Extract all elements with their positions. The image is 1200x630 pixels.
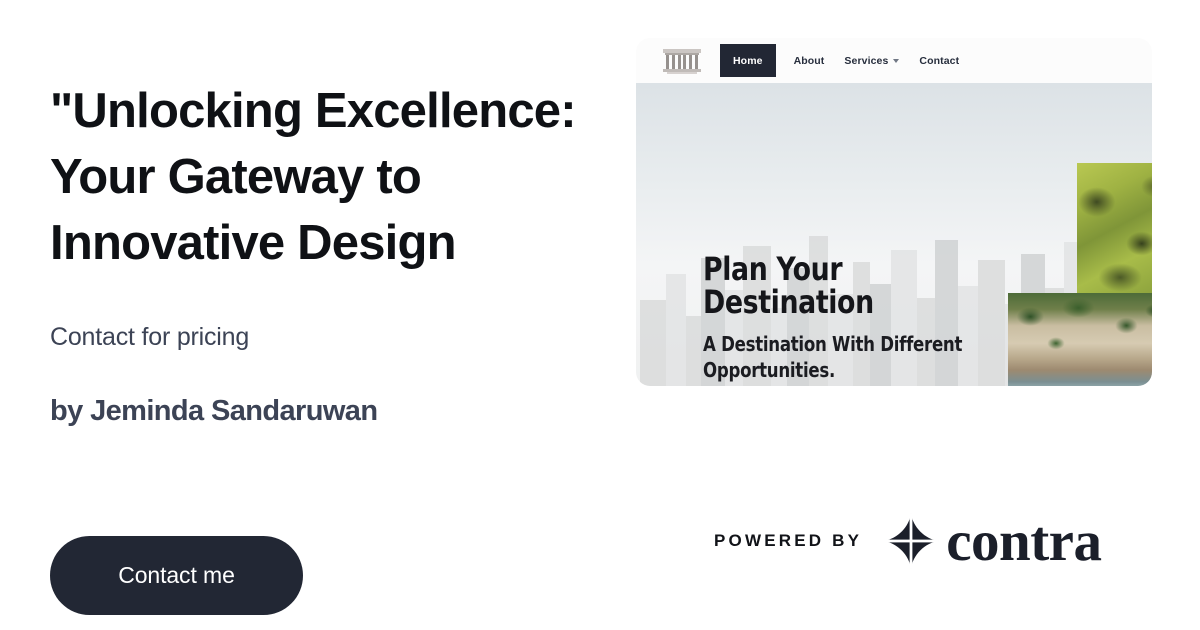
offer-card-page: "Unlocking Excellence: Your Gateway to I… — [0, 0, 1200, 630]
powered-by-label: POWERED BY — [714, 531, 862, 551]
classical-building-icon — [663, 46, 701, 76]
preview-hero-copy: Plan Your Destination A Destination With… — [703, 253, 1023, 383]
preview-hero-title-line2: Destination — [703, 286, 1001, 319]
preview-nav-item-services[interactable]: Services — [834, 45, 909, 77]
preview-hero-title-line1: Plan Your — [703, 253, 1001, 286]
pricing-text: Contact for pricing — [50, 322, 595, 352]
preview-nav-item-about[interactable]: About — [784, 45, 835, 77]
beach-photo — [1008, 293, 1152, 386]
preview-nav-links: Home About Services Contact — [720, 44, 969, 77]
hillside-photo — [1077, 163, 1152, 293]
author-byline: by Jeminda Sandaruwan — [50, 394, 595, 428]
contact-me-button[interactable]: Contact me — [50, 536, 303, 615]
offer-details: "Unlocking Excellence: Your Gateway to I… — [50, 78, 595, 428]
preview-hero-subtitle: A Destination With Different Opportuniti… — [703, 331, 991, 383]
project-preview-card[interactable]: Home About Services Contact — [636, 38, 1152, 386]
contra-wordmark: contra — [946, 513, 1101, 570]
chevron-down-icon — [893, 59, 899, 63]
preview-site-navbar: Home About Services Contact — [636, 38, 1152, 83]
preview-nav-item-services-label: Services — [844, 55, 888, 67]
preview-hero: Plan Your Destination A Destination With… — [636, 83, 1152, 386]
powered-by-contra: POWERED BY contra — [714, 512, 1101, 570]
preview-nav-item-home[interactable]: Home — [720, 44, 776, 77]
page-title: "Unlocking Excellence: Your Gateway to I… — [50, 78, 595, 276]
preview-nav-item-contact[interactable]: Contact — [909, 45, 969, 77]
four-pointed-star-icon — [882, 512, 940, 570]
